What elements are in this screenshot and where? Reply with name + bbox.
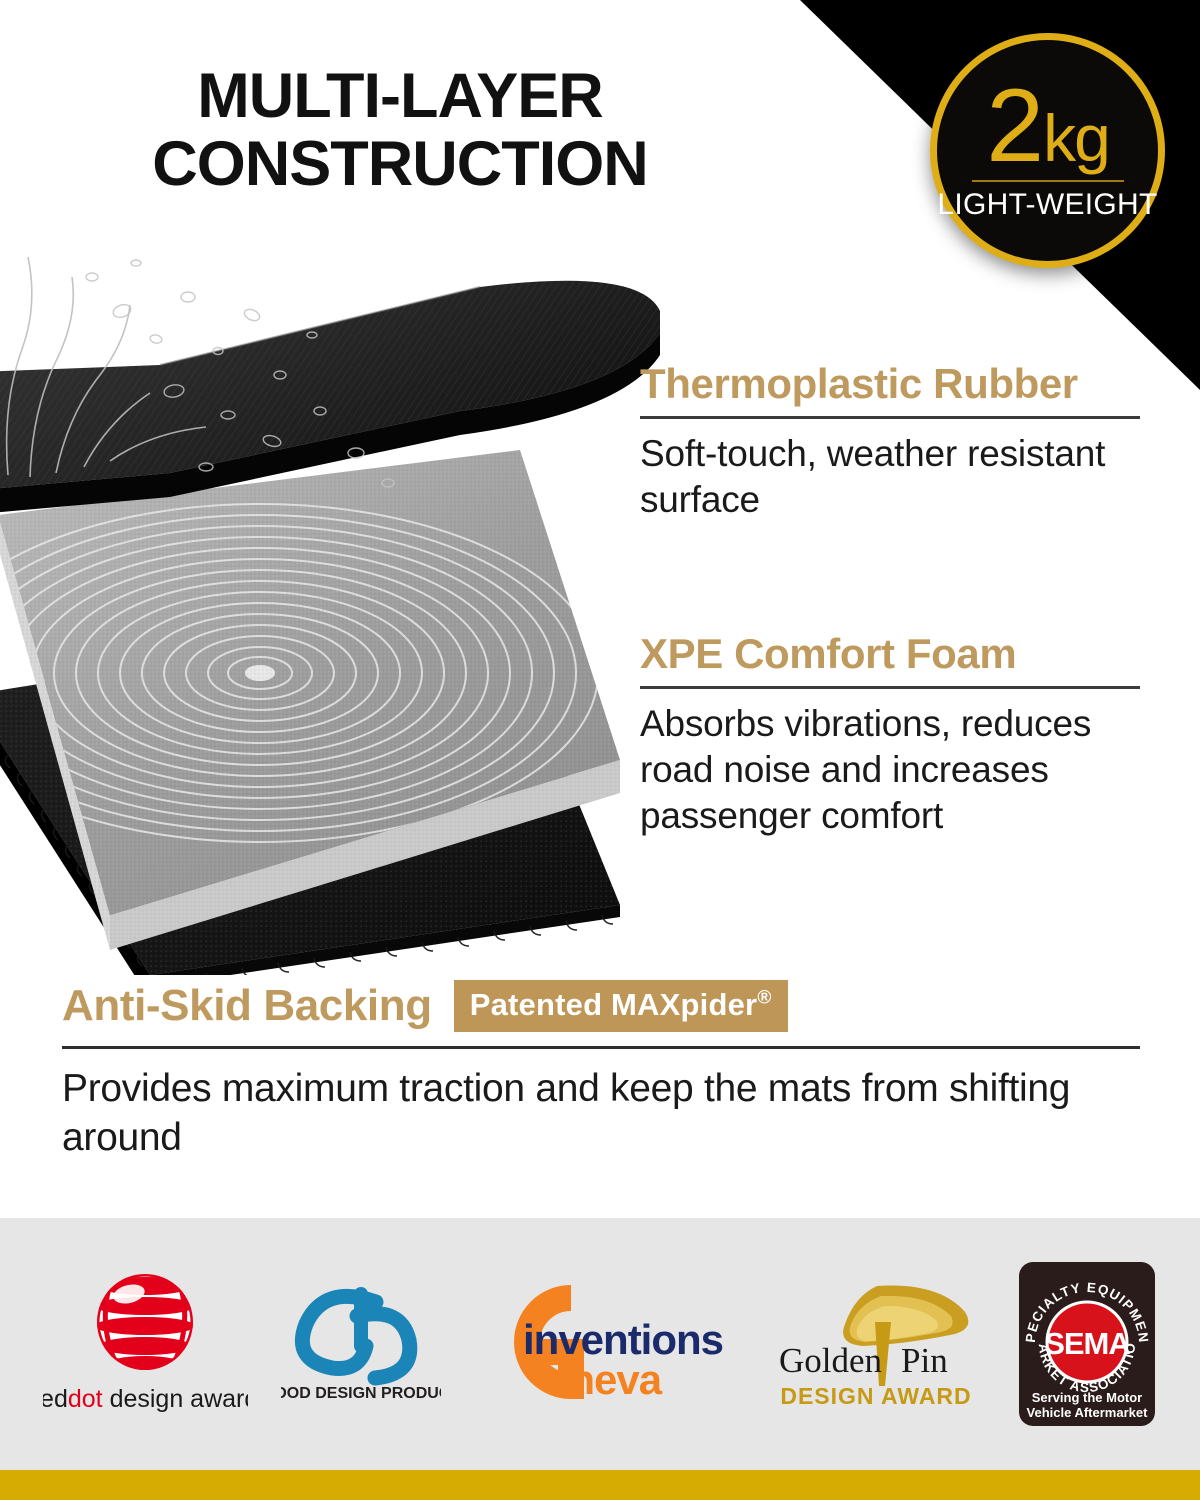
anti-skid-heading-row: Anti-Skid Backing Patented MAXpider® [62,980,1142,1032]
feature-anti-skid-backing: Anti-Skid Backing Patented MAXpider® Pro… [62,980,1142,1163]
award-good-design-product: GOOD DESIGN PRODUCT [281,1272,441,1417]
feature-description: Soft-touch, weather resistant surface [640,431,1140,524]
feature-description: Absorbs vibrations, reduces road noise a… [640,701,1140,840]
weight-number: 2 [986,79,1042,175]
golden-pin-logo-icon: Golden Pin DESIGN AWARD [769,1274,984,1414]
geneva-text: eneva [547,1356,663,1403]
badge-divider [972,180,1124,182]
award-golden-pin: Golden Pin DESIGN AWARD [769,1274,984,1414]
sema-tagline-1: Serving the Motor [1032,1390,1143,1405]
feature-divider [62,1046,1140,1049]
good-design-product-label: GOOD DESIGN PRODUCT [281,1385,441,1402]
bottom-gold-bar [0,1470,1200,1500]
inventions-geneva-logo-icon: inventions eneva [475,1282,735,1407]
page-title: MULTI-LAYER CONSTRUCTION [0,62,800,198]
patented-maxpider-badge: Patented MAXpider® [454,980,788,1032]
feature-description: Provides maximum traction and keep the m… [62,1065,1142,1163]
weight-value: 2kg [986,79,1109,179]
feature-thermoplastic-rubber: Thermoplastic Rubber Soft-touch, weather… [640,362,1140,523]
award-sema: SPECIALTY EQUIPMENT MARKET ASSOCIATION S… [1017,1260,1157,1428]
reddot-text-red: red [43,1385,68,1413]
svg-text:reddot design award: reddot design award [43,1385,248,1413]
award-inventions-geneva: inventions eneva [475,1282,735,1407]
feature-title: XPE Comfort Foam [640,632,1140,677]
title-line-2: CONSTRUCTION [152,129,647,199]
feature-divider [640,416,1140,419]
sema-center-text: SEMA [1044,1326,1130,1361]
feature-divider [640,686,1140,689]
weight-caption: LIGHT-WEIGHT [937,188,1157,222]
patent-badge-label: Patented MAXpider [470,987,758,1022]
registered-mark: ® [757,988,771,1009]
weight-badge: 2kg LIGHT-WEIGHT [930,33,1165,268]
awards-band: reddot design award GOOD DESIGN PRODUCT … [0,1218,1200,1470]
golden-text: Golden [779,1341,882,1380]
product-layer-illustration [0,215,660,975]
reddot-text-rest: design award [102,1385,247,1413]
weight-unit: kg [1043,108,1109,169]
reddot-text-dot: dot [68,1385,103,1413]
title-line-1: MULTI-LAYER [197,61,602,131]
golden-pin-subtitle: DESIGN AWARD [780,1383,971,1409]
feature-xpe-comfort-foam: XPE Comfort Foam Absorbs vibrations, red… [640,632,1140,839]
infographic-page: 2kg LIGHT-WEIGHT MULTI-LAYER CONSTRUCTIO… [0,0,1200,1500]
sema-logo-icon: SPECIALTY EQUIPMENT MARKET ASSOCIATION S… [1017,1260,1157,1428]
feature-title: Anti-Skid Backing [62,981,432,1031]
pin-text: Pin [901,1341,948,1380]
award-reddot: reddot design award [43,1264,248,1424]
sema-tagline-2: Vehicle Aftermarket [1027,1405,1149,1420]
feature-title: Thermoplastic Rubber [640,362,1140,407]
good-design-product-logo-icon: GOOD DESIGN PRODUCT [281,1272,441,1417]
reddot-logo-icon: reddot design award [43,1264,248,1424]
